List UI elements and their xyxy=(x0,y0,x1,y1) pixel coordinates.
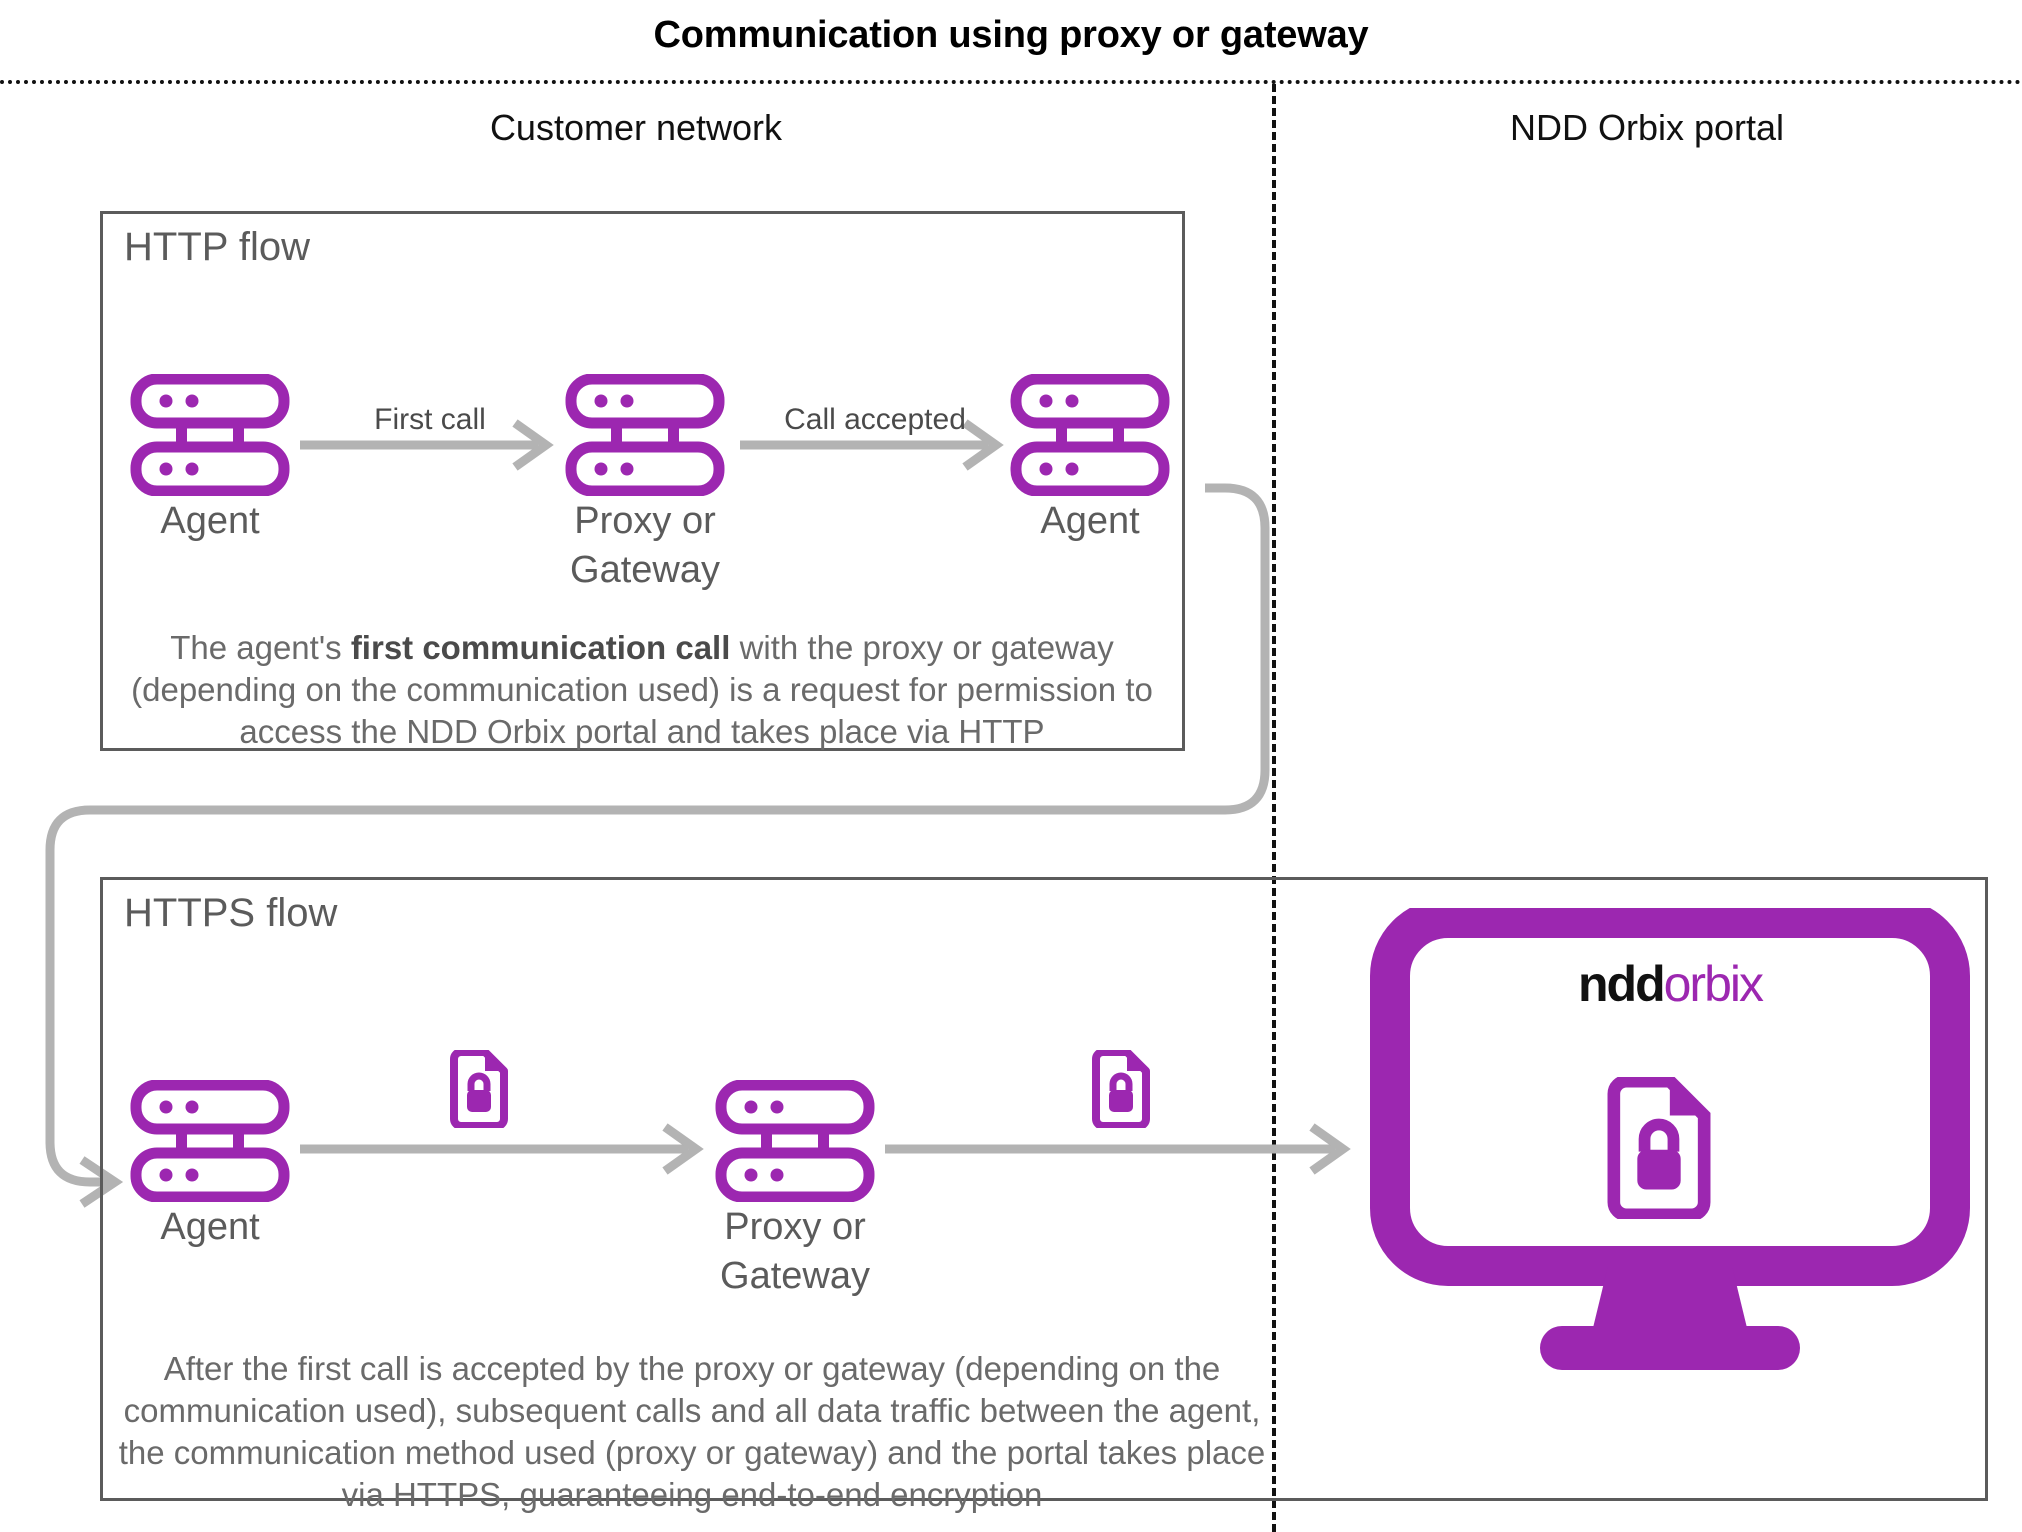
brand-name-ndd: ndd xyxy=(1578,956,1664,1012)
https-flow-note: After the first call is accepted by the … xyxy=(112,1348,1272,1516)
lock-document-icon xyxy=(1090,1050,1152,1128)
lock-document-icon xyxy=(448,1050,510,1128)
http-flow-title: HTTP flow xyxy=(124,225,310,270)
page-title: Communication using proxy or gateway xyxy=(0,14,2022,57)
edge-label-call-accepted: Call accepted xyxy=(725,403,1025,437)
https-flow-title: HTTPS flow xyxy=(124,891,337,936)
edge-label-first-call: First call xyxy=(290,403,570,437)
server-icon xyxy=(130,1080,290,1202)
arrow-https-agent-to-proxy xyxy=(300,1124,710,1174)
zone-label-customer-network: Customer network xyxy=(0,107,1272,149)
brand-name-orbix: orbix xyxy=(1664,956,1762,1012)
node-label-https-agent: Agent xyxy=(110,1203,310,1252)
server-icon xyxy=(715,1080,875,1202)
zone-label-ndd-orbix-portal: NDD Orbix portal xyxy=(1272,107,2022,149)
arrow-https-proxy-to-portal xyxy=(885,1124,1360,1174)
diagram-canvas: Communication using proxy or gateway Cus… xyxy=(0,0,2022,1532)
node-label-https-proxy-gateway: Proxy or Gateway xyxy=(675,1203,915,1301)
lock-document-icon xyxy=(1603,1077,1715,1219)
horizontal-divider xyxy=(0,80,2022,84)
ndd-orbix-logo: nddorbix xyxy=(1370,955,1970,1013)
